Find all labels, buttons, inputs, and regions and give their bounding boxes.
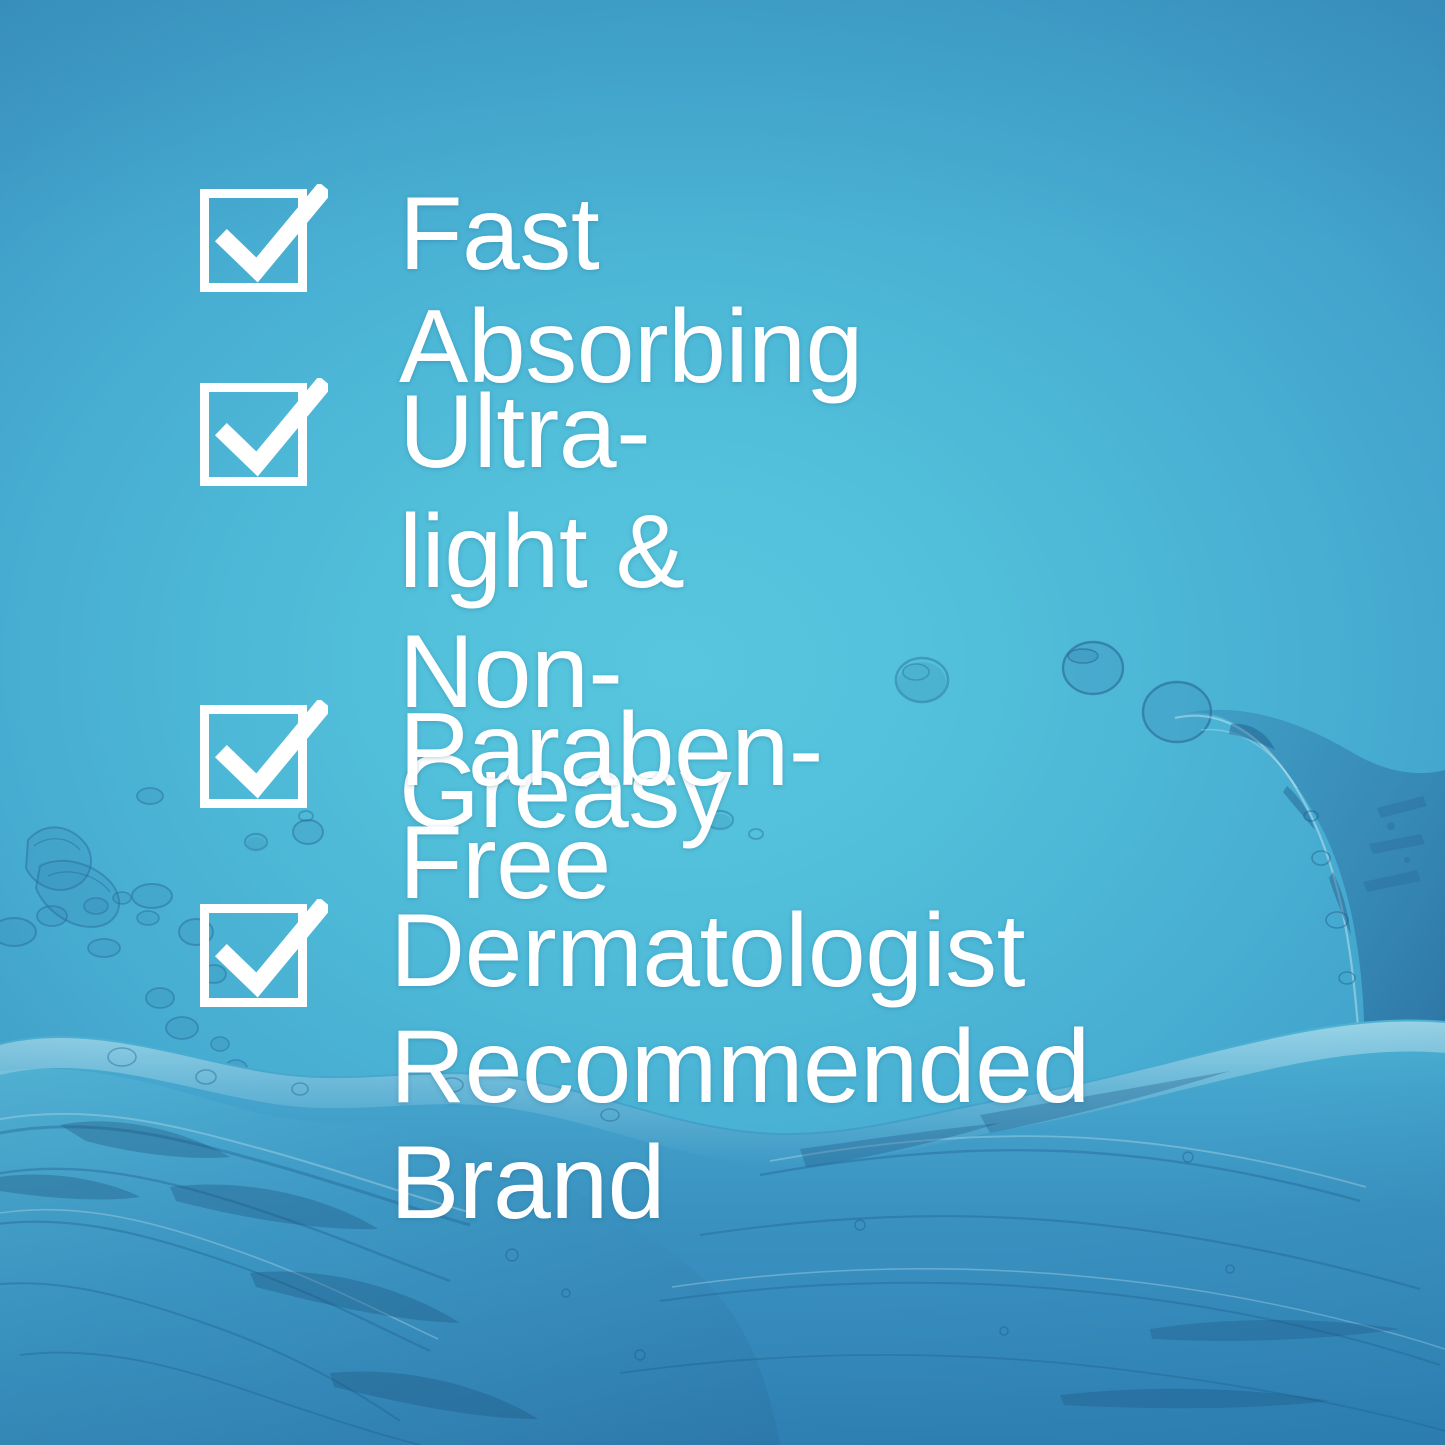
product-feature-poster: Fast Absorbing Ultra-light & Non-Greasy …: [0, 0, 1445, 1445]
background-vignette: [0, 0, 1445, 1445]
